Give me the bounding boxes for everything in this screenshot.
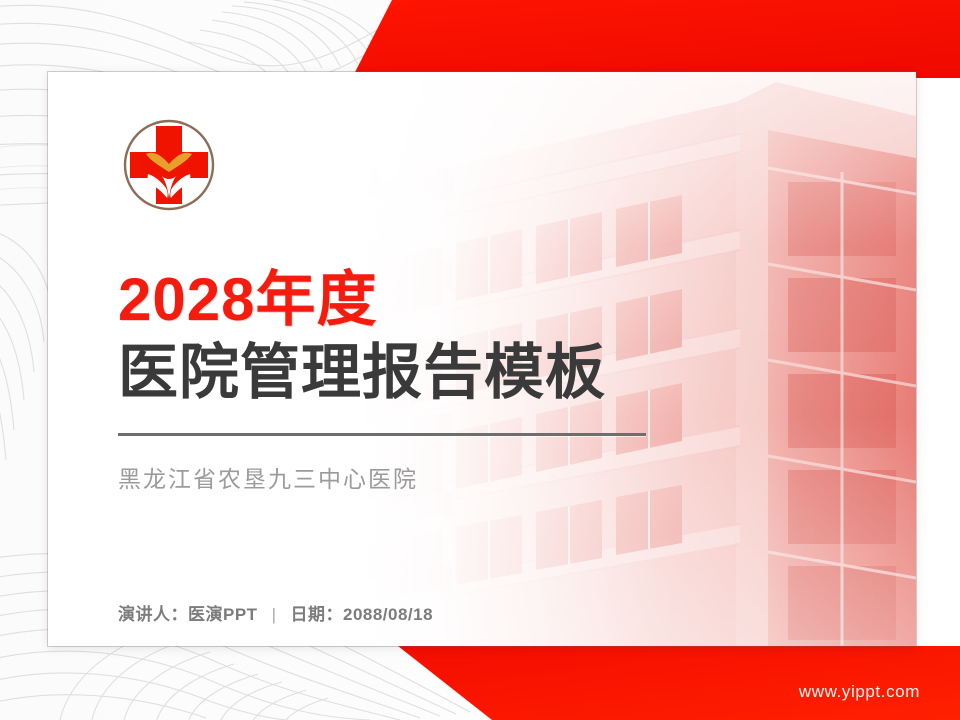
date-value: 2088/08/18 [343, 605, 433, 624]
content-card: 2028年度 医院管理报告模板 黑龙江省农垦九三中心医院 演讲人：医演PPT|日… [48, 72, 916, 646]
meta-separator: | [258, 605, 291, 625]
organization-name: 黑龙江省农垦九三中心医院 [118, 460, 758, 494]
page-title-year: 2028年度 [118, 268, 758, 332]
presenter-value: 医演PPT [188, 605, 258, 624]
title-block: 2028年度 医院管理报告模板 黑龙江省农垦九三中心医院 [118, 268, 758, 494]
date-label: 日期： [290, 605, 343, 624]
presentation-slide: 2028年度 医院管理报告模板 黑龙江省农垦九三中心医院 演讲人：医演PPT|日… [0, 0, 960, 720]
presenter-label: 演讲人： [118, 605, 188, 624]
page-title-main: 医院管理报告模板 [118, 338, 758, 408]
title-divider [118, 433, 646, 436]
hospital-red-cross-logo [118, 114, 220, 216]
presenter-date-meta: 演讲人：医演PPT|日期：2088/08/18 [118, 600, 433, 625]
site-watermark: www.yippt.com [799, 682, 920, 702]
